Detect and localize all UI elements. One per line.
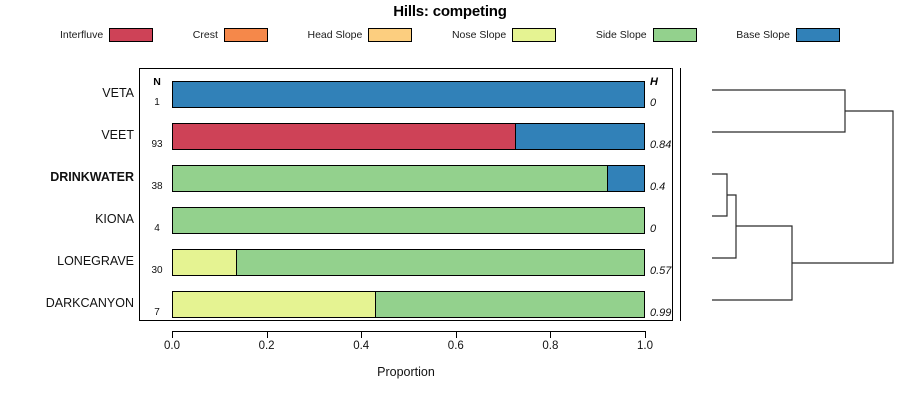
legend-label: Interfluve xyxy=(60,29,103,41)
taxa-label: VETA xyxy=(0,86,134,100)
legend: InterfluveCrestHead SlopeNose SlopeSide … xyxy=(60,26,840,44)
legend-swatch xyxy=(653,28,697,42)
x-axis-tick-label: 0.4 xyxy=(341,340,381,352)
bar-row[interactable] xyxy=(172,123,645,150)
legend-label: Side Slope xyxy=(596,29,647,41)
x-axis-label: Proportion xyxy=(139,365,673,379)
bar-segment[interactable] xyxy=(173,250,236,275)
x-axis-tick xyxy=(645,331,646,338)
x-axis-tick-label: 1.0 xyxy=(625,340,665,352)
column-header-h: H xyxy=(650,76,670,88)
legend-swatch xyxy=(512,28,556,42)
bar-row[interactable] xyxy=(172,249,645,276)
x-axis-tick xyxy=(267,331,268,338)
taxa-label: KIONA xyxy=(0,212,134,226)
dendrogram-links xyxy=(712,90,893,300)
x-axis-tick xyxy=(361,331,362,338)
bar-row[interactable] xyxy=(172,291,645,318)
x-axis-tick-label: 0.2 xyxy=(247,340,287,352)
dendrogram-svg xyxy=(680,68,900,321)
bars-layer xyxy=(172,68,645,321)
bar-segment[interactable] xyxy=(515,124,644,149)
taxa-label: DRINKWATER xyxy=(0,170,134,184)
x-axis: 0.00.20.40.60.81.0 xyxy=(139,321,673,322)
n-value: 7 xyxy=(145,307,169,318)
legend-swatch xyxy=(224,28,268,42)
bar-segment[interactable] xyxy=(173,292,375,317)
legend-swatch xyxy=(109,28,153,42)
bar-segment[interactable] xyxy=(607,166,644,191)
legend-swatch xyxy=(368,28,412,42)
bar-row[interactable] xyxy=(172,81,645,108)
bar-segment[interactable] xyxy=(236,250,644,275)
column-header-n: N xyxy=(145,76,169,88)
x-axis-tick xyxy=(550,331,551,338)
x-axis-tick xyxy=(456,331,457,338)
n-value: 30 xyxy=(145,265,169,276)
x-axis-tick xyxy=(172,331,173,338)
bar-row[interactable] xyxy=(172,207,645,234)
x-axis-tick-label: 0.6 xyxy=(436,340,476,352)
bar-segment[interactable] xyxy=(173,124,515,149)
x-axis-tick-label: 0.0 xyxy=(152,340,192,352)
legend-item[interactable]: Nose Slope xyxy=(452,28,556,42)
legend-label: Nose Slope xyxy=(452,29,506,41)
legend-item[interactable]: Side Slope xyxy=(596,28,697,42)
x-axis-line xyxy=(172,331,645,332)
chart-root: Hills: competing InterfluveCrestHead Slo… xyxy=(0,0,900,400)
bar-segment[interactable] xyxy=(173,208,644,233)
bar-segment[interactable] xyxy=(173,166,607,191)
legend-label: Base Slope xyxy=(736,29,790,41)
n-value: 38 xyxy=(145,181,169,192)
legend-label: Crest xyxy=(193,29,218,41)
n-value: 4 xyxy=(145,223,169,234)
dendrogram xyxy=(680,68,900,321)
x-axis-tick-label: 0.8 xyxy=(530,340,570,352)
legend-item[interactable]: Interfluve xyxy=(60,28,153,42)
legend-label: Head Slope xyxy=(307,29,362,41)
n-value: 93 xyxy=(145,139,169,150)
legend-swatch xyxy=(796,28,840,42)
bar-segment[interactable] xyxy=(173,82,644,107)
taxa-label: VEET xyxy=(0,128,134,142)
bar-segment[interactable] xyxy=(375,292,644,317)
taxa-label: LONEGRAVE xyxy=(0,254,134,268)
n-value: 1 xyxy=(145,97,169,108)
legend-item[interactable]: Crest xyxy=(193,28,268,42)
legend-item[interactable]: Base Slope xyxy=(736,28,840,42)
bar-row[interactable] xyxy=(172,165,645,192)
legend-item[interactable]: Head Slope xyxy=(307,28,412,42)
taxa-label: DARKCANYON xyxy=(0,296,134,310)
chart-title: Hills: competing xyxy=(0,3,900,20)
